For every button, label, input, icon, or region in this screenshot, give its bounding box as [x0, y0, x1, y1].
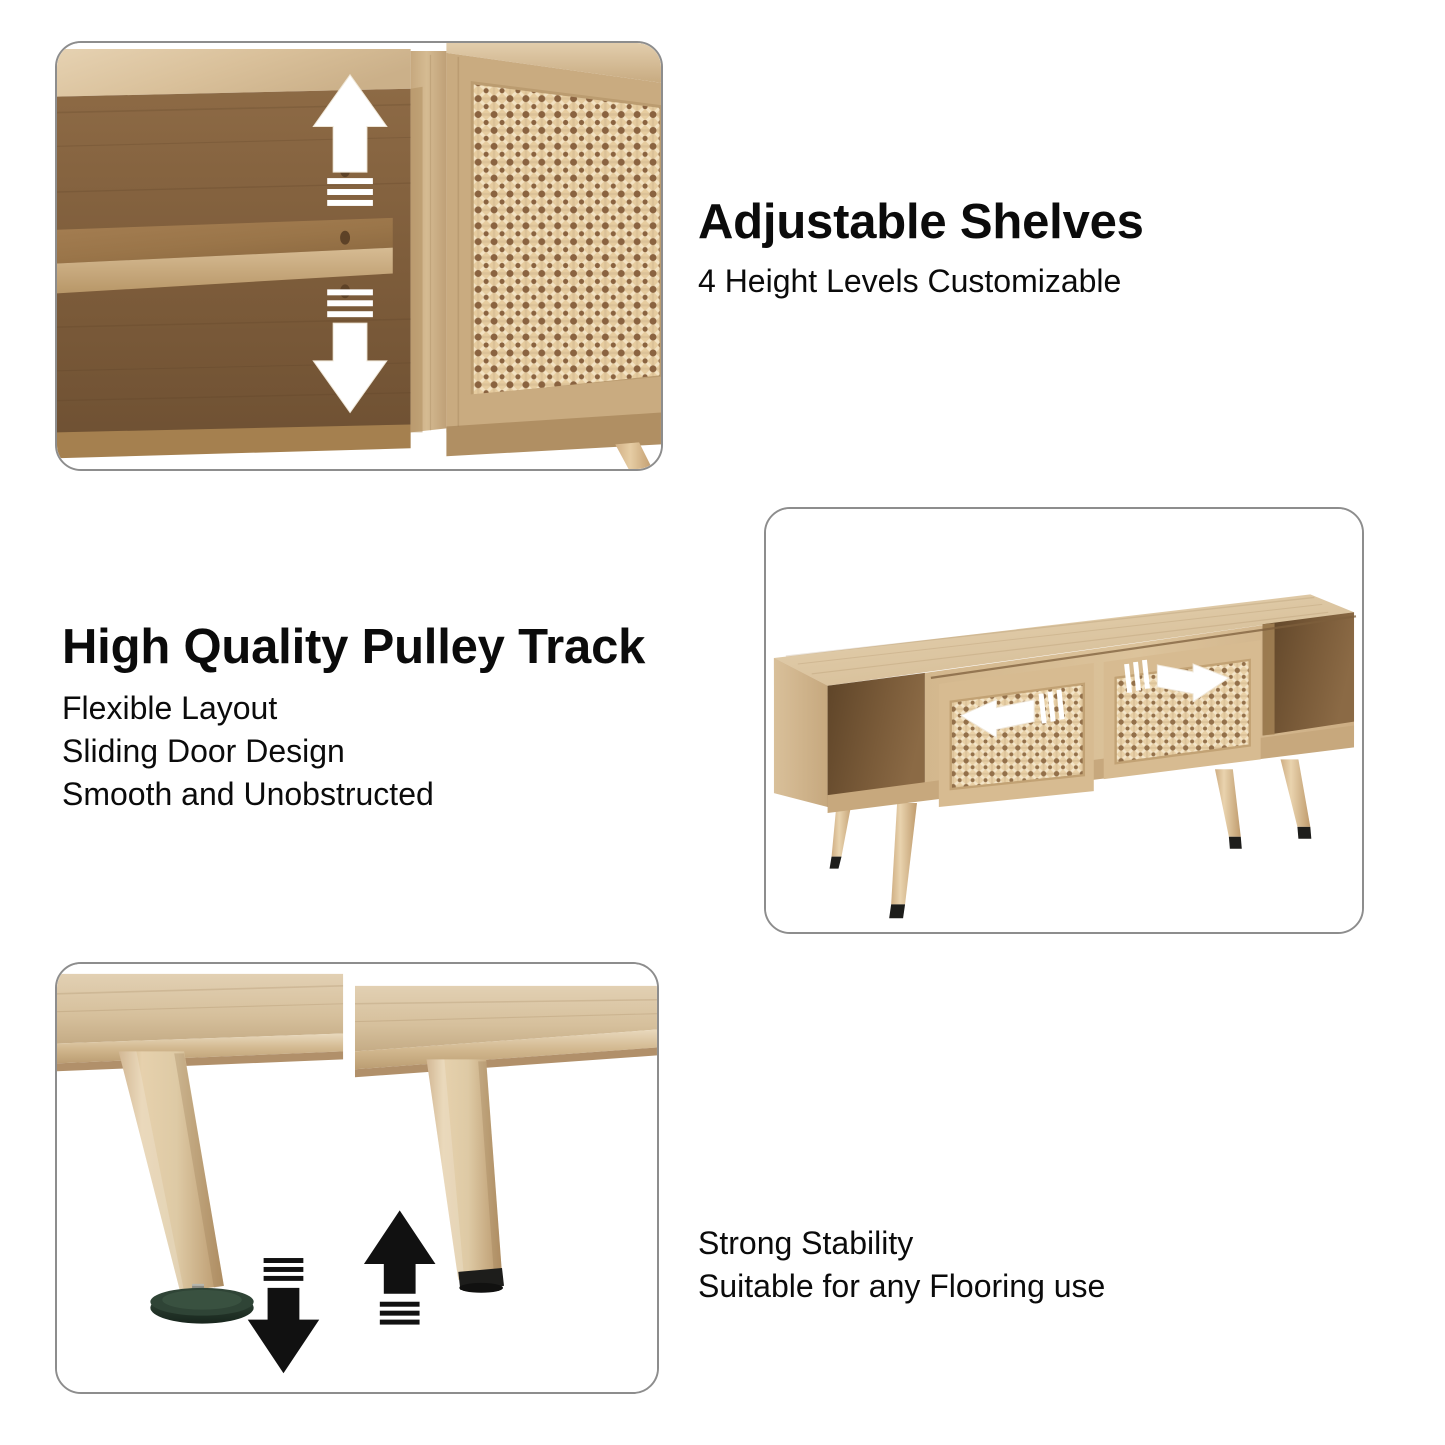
shelf-closeup-illustration — [57, 43, 661, 470]
shelves-headline: Adjustable Shelves — [698, 197, 1144, 248]
infographic-canvas: Adjustable Shelves 4 Height Levels Custo… — [0, 0, 1445, 1445]
leg-closeup-illustration — [57, 964, 657, 1393]
full-stand-illustration — [766, 509, 1362, 933]
feature-text-pulley: High Quality Pulley Track Flexible Layou… — [62, 622, 645, 815]
panel-shelf-closeup — [55, 41, 663, 471]
feature-text-stability: Strong Stability Suitable for any Floori… — [698, 1222, 1105, 1307]
feature-text-shelves: Adjustable Shelves 4 Height Levels Custo… — [698, 197, 1144, 303]
pulley-headline: High Quality Pulley Track — [62, 622, 645, 673]
sliding-door-left[interactable] — [939, 663, 1094, 807]
stability-subline: Strong Stability Suitable for any Floori… — [698, 1222, 1105, 1307]
pulley-subline: Flexible Layout Sliding Door Design Smoo… — [62, 687, 645, 815]
shelves-subline: 4 Height Levels Customizable — [698, 260, 1144, 303]
panel-leg-closeup — [55, 962, 659, 1394]
panel-full-stand — [764, 507, 1364, 934]
sliding-door-right[interactable] — [1104, 640, 1261, 779]
